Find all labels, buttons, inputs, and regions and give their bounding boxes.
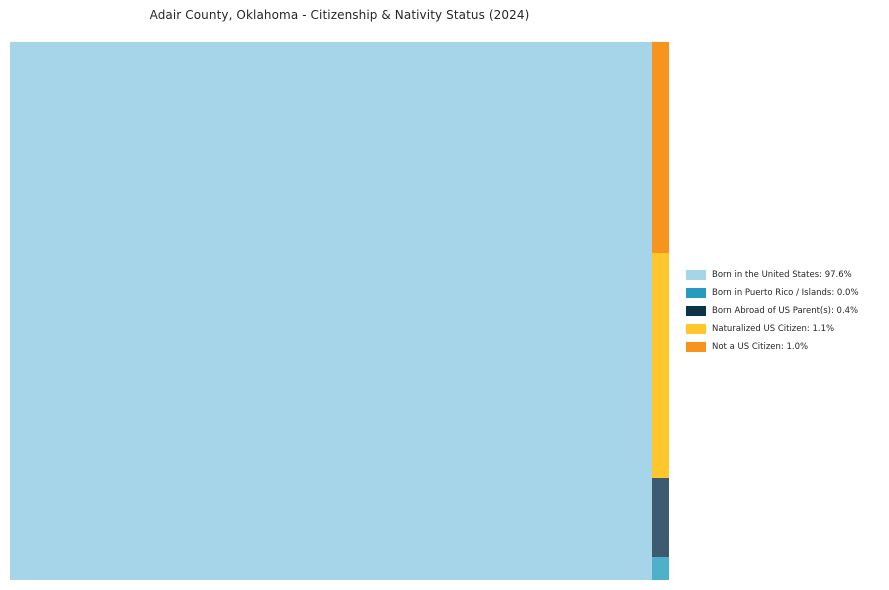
legend-color-swatch bbox=[686, 270, 706, 280]
legend-color-swatch bbox=[686, 288, 706, 298]
legend-item[interactable]: Born Abroad of US Parent(s): 0.4% bbox=[686, 302, 886, 320]
legend-item[interactable]: Naturalized US Citizen: 1.1% bbox=[686, 320, 886, 338]
treemap-tile[interactable] bbox=[10, 42, 652, 580]
legend-item[interactable]: Born in the United States: 97.6% bbox=[686, 266, 886, 284]
treemap-tile[interactable] bbox=[652, 253, 669, 478]
chart-figure: Adair County, Oklahoma - Citizenship & N… bbox=[0, 0, 889, 590]
legend-item-label: Born in the United States: 97.6% bbox=[712, 270, 852, 280]
legend-color-swatch bbox=[686, 306, 706, 316]
legend-item-label: Not a US Citizen: 1.0% bbox=[712, 342, 808, 352]
treemap-tile[interactable] bbox=[652, 557, 669, 580]
chart-title: Adair County, Oklahoma - Citizenship & N… bbox=[0, 8, 679, 22]
treemap-tile[interactable] bbox=[652, 478, 669, 557]
treemap-plot-area bbox=[10, 42, 669, 580]
chart-legend: Born in the United States: 97.6%Born in … bbox=[686, 266, 886, 356]
legend-item-label: Naturalized US Citizen: 1.1% bbox=[712, 324, 834, 334]
legend-item[interactable]: Not a US Citizen: 1.0% bbox=[686, 338, 886, 356]
treemap-tile[interactable] bbox=[652, 42, 669, 253]
legend-item-label: Born Abroad of US Parent(s): 0.4% bbox=[712, 306, 858, 316]
legend-color-swatch bbox=[686, 342, 706, 352]
legend-color-swatch bbox=[686, 324, 706, 334]
legend-item[interactable]: Born in Puerto Rico / Islands: 0.0% bbox=[686, 284, 886, 302]
legend-item-label: Born in Puerto Rico / Islands: 0.0% bbox=[712, 288, 859, 298]
